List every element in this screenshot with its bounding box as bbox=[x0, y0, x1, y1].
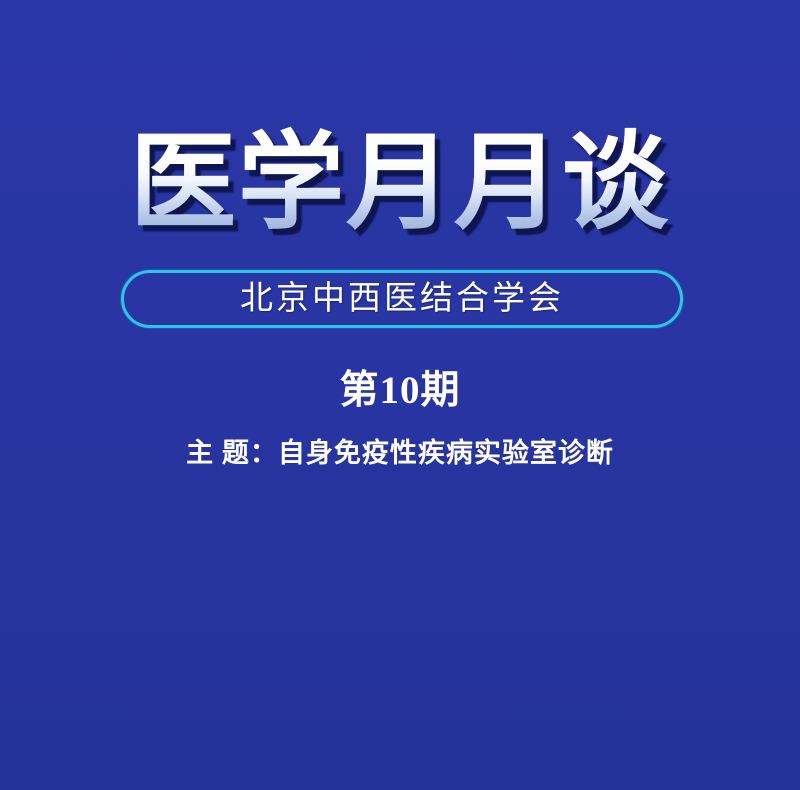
main-title: 医学月月谈 bbox=[130, 128, 670, 239]
organization-name: 北京中西医结合学会 bbox=[240, 283, 564, 316]
organization-pill: 北京中西医结合学会 bbox=[121, 270, 683, 328]
topic-line: 主 题：自身免疫性疾病实验室诊断 bbox=[0, 437, 800, 469]
poster-canvas: 医学月月谈 医学月月谈 北京中西医结合学会 第10期 主 题：自身免疫性疾病实验… bbox=[0, 0, 800, 790]
issue-number: 第10期 bbox=[0, 370, 800, 413]
main-title-block: 医学月月谈 医学月月谈 bbox=[0, 128, 800, 239]
empty-lower-area bbox=[0, 500, 800, 790]
